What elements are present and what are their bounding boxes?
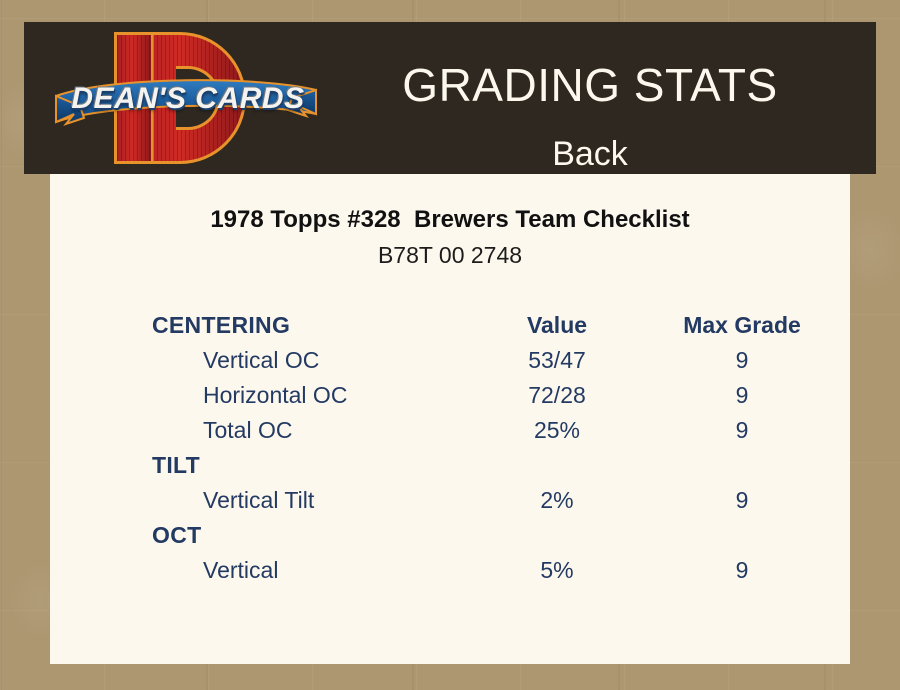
section-label: OCT <box>152 518 482 553</box>
section-header-oct: OCT <box>152 518 852 553</box>
card-code: B78T 00 2748 <box>50 242 850 269</box>
page-root: DEAN'S CARDS GRADING STATS Back 1978 Top… <box>0 0 900 690</box>
row-value: 72/28 <box>492 378 622 413</box>
card-title: 1978 Topps #328 Brewers Team Checklist <box>50 206 850 234</box>
table-row: Vertical 5% 9 <box>152 553 852 588</box>
column-header-value: Value <box>492 308 622 343</box>
row-grade: 9 <box>652 413 832 448</box>
row-label: Vertical OC <box>152 343 482 378</box>
row-value: 2% <box>492 483 622 518</box>
section-header-centering: CENTERING <box>152 308 482 343</box>
row-label: Horizontal OC <box>152 378 482 413</box>
deans-cards-logo[interactable]: DEAN'S CARDS <box>52 26 320 170</box>
row-value: 25% <box>492 413 622 448</box>
content-panel: 1978 Topps #328 Brewers Team Checklist B… <box>50 174 850 664</box>
table-header-row: CENTERING Value Max Grade <box>152 308 852 343</box>
page-title: GRADING STATS <box>320 58 860 112</box>
header-bar: DEAN'S CARDS GRADING STATS Back <box>24 22 876 174</box>
section-header-tilt: TILT <box>152 448 852 483</box>
table-row: Vertical Tilt 2% 9 <box>152 483 852 518</box>
table-row: Total OC 25% 9 <box>152 413 852 448</box>
row-grade: 9 <box>652 378 832 413</box>
row-value: 53/47 <box>492 343 622 378</box>
column-header-max-grade: Max Grade <box>652 308 832 343</box>
row-grade: 9 <box>652 343 832 378</box>
section-label: TILT <box>152 448 482 483</box>
row-grade: 9 <box>652 553 832 588</box>
row-grade: 9 <box>652 483 832 518</box>
row-label: Vertical Tilt <box>152 483 482 518</box>
page-subtitle: Back <box>320 134 860 174</box>
row-label: Total OC <box>152 413 482 448</box>
table-row: Vertical OC 53/47 9 <box>152 343 852 378</box>
logo-wordmark: DEAN'S CARDS <box>68 78 308 120</box>
row-value: 5% <box>492 553 622 588</box>
row-label: Vertical <box>152 553 482 588</box>
table-row: Horizontal OC 72/28 9 <box>152 378 852 413</box>
grading-stats-table: CENTERING Value Max Grade Vertical OC 53… <box>152 308 852 588</box>
